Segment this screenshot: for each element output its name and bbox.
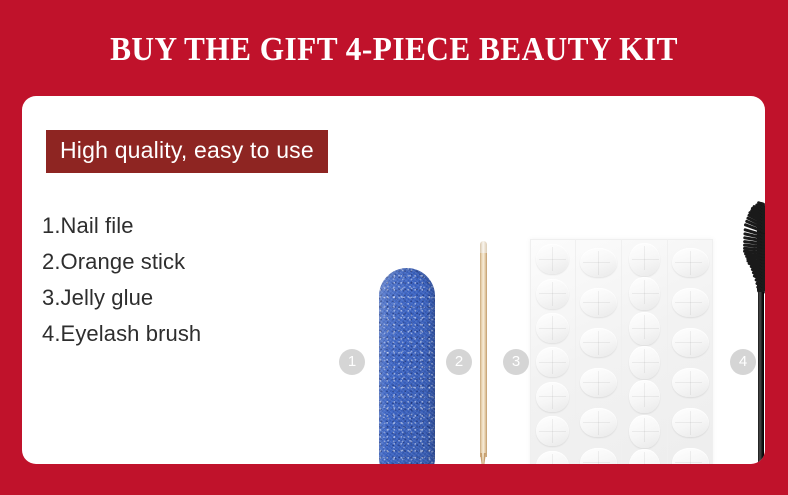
glue-tab xyxy=(629,243,660,276)
glue-tab xyxy=(672,248,709,277)
glue-tab xyxy=(629,346,660,379)
number-badge-2: 2 xyxy=(446,349,472,375)
list-item: 2.Orange stick xyxy=(42,244,201,280)
glue-column xyxy=(621,239,667,464)
glue-tab xyxy=(629,312,660,345)
glue-column xyxy=(667,239,713,464)
number-badge-3: 3 xyxy=(503,349,529,375)
glue-tab xyxy=(580,328,617,357)
glue-tab xyxy=(629,277,660,310)
list-item: 1.Nail file xyxy=(42,208,201,244)
nail-file-image xyxy=(379,268,435,464)
glue-tab xyxy=(672,288,709,317)
glue-tab xyxy=(629,449,660,464)
brush-head xyxy=(744,200,765,294)
glue-tab xyxy=(536,279,569,309)
product-card: High quality, easy to use 1.Nail file 2.… xyxy=(22,96,765,464)
glue-tab xyxy=(672,328,709,357)
orange-stick-top xyxy=(480,241,487,253)
number-badge-4: 4 xyxy=(730,349,756,375)
glue-tab xyxy=(672,408,709,437)
glue-tab xyxy=(672,448,709,464)
glue-tab xyxy=(580,448,617,464)
list-item: 4.Eyelash brush xyxy=(42,316,201,352)
glue-tab xyxy=(580,248,617,277)
glue-tab xyxy=(536,244,569,274)
jelly-glue-image xyxy=(530,239,713,464)
quality-badge: High quality, easy to use xyxy=(46,130,328,173)
promo-banner: BUY THE GIFT 4-PIECE BEAUTY KIT High qua… xyxy=(0,0,788,495)
list-item: 3.Jelly glue xyxy=(42,280,201,316)
glue-tab xyxy=(629,415,660,448)
glue-tab xyxy=(580,368,617,397)
glue-tab xyxy=(536,347,569,377)
orange-stick-tip-highlight xyxy=(482,453,484,464)
glue-tab xyxy=(672,368,709,397)
glue-tab xyxy=(536,451,569,464)
brush-handle xyxy=(758,292,764,464)
eyelash-brush-image xyxy=(744,200,765,464)
glue-tab xyxy=(580,288,617,317)
glue-column xyxy=(575,239,621,464)
glue-tab xyxy=(536,382,569,412)
glue-tab xyxy=(536,313,569,343)
glue-tab xyxy=(629,380,660,413)
glue-column xyxy=(530,239,575,464)
glue-tab xyxy=(580,408,617,437)
feature-list: 1.Nail file 2.Orange stick 3.Jelly glue … xyxy=(42,208,201,352)
page-title: BUY THE GIFT 4-PIECE BEAUTY KIT xyxy=(32,30,757,70)
number-badge-1: 1 xyxy=(339,349,365,375)
orange-stick-body xyxy=(480,247,487,457)
glue-tab xyxy=(536,416,569,446)
orange-stick-image xyxy=(480,241,487,464)
